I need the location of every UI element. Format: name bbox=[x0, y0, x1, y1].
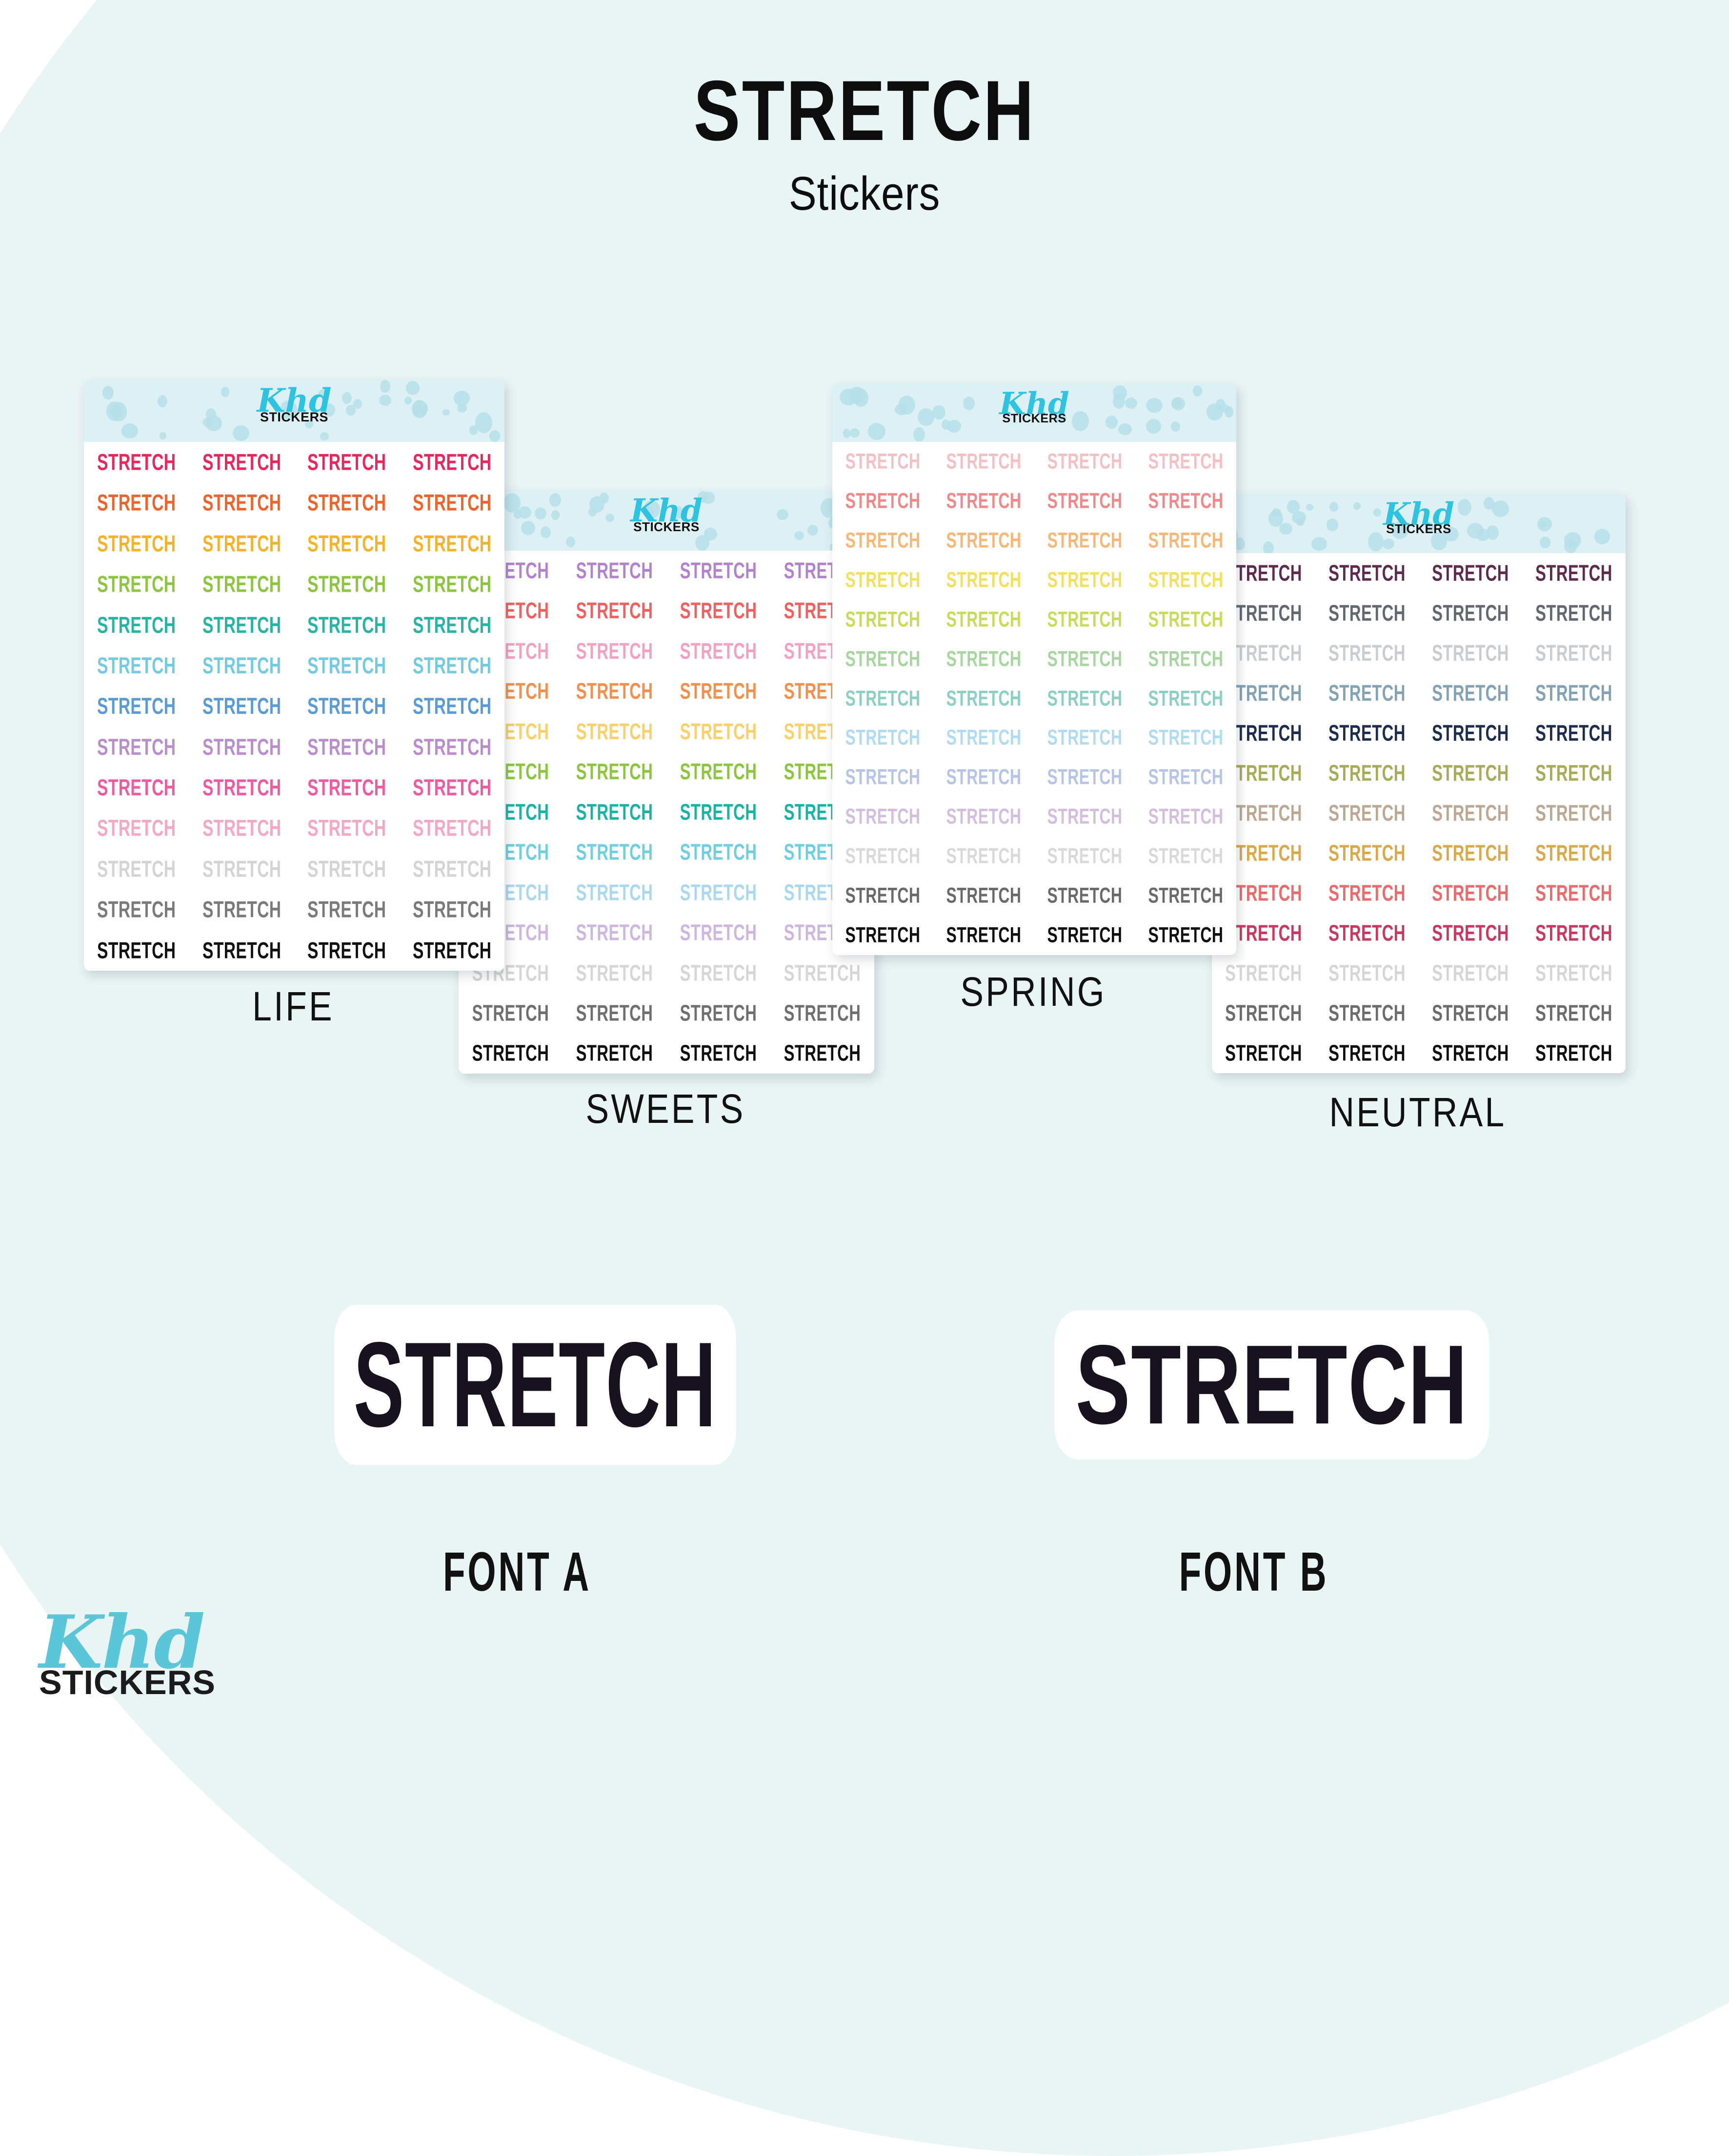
polka-dot-icon bbox=[777, 509, 788, 520]
sheet-sticker-grid: STRETCHSTRETCHSTRETCHSTRETCHSTRETCHSTRET… bbox=[1212, 553, 1626, 1073]
sticker-neutral-r11-c1[interactable]: STRETCH bbox=[1222, 951, 1305, 996]
sticker-life-r7-c1[interactable]: STRETCH bbox=[95, 683, 179, 729]
polka-dot-icon bbox=[1353, 502, 1360, 509]
sticker-spring-r3-c1[interactable]: STRETCH bbox=[843, 519, 924, 563]
polka-dot-icon bbox=[442, 409, 450, 416]
sticker-life-r12-c1[interactable]: STRETCH bbox=[95, 887, 179, 932]
sticker-life-r13-c3[interactable]: STRETCH bbox=[305, 927, 389, 971]
sticker-spring-r8-c3[interactable]: STRETCH bbox=[1045, 716, 1126, 760]
sheet-sticker-grid: STRETCHSTRETCHSTRETCHSTRETCHSTRETCHSTRET… bbox=[832, 442, 1236, 955]
sticker-neutral-r13-c4[interactable]: STRETCH bbox=[1532, 1031, 1615, 1073]
sticker-sweets-r12-c1[interactable]: STRETCH bbox=[469, 991, 552, 1036]
polka-dot-icon bbox=[454, 391, 469, 406]
sticker-sweets-r1-c2[interactable]: STRETCH bbox=[573, 548, 656, 593]
sticker-neutral-r3-c2[interactable]: STRETCH bbox=[1326, 631, 1408, 676]
sticker-spring-r1-c1[interactable]: STRETCH bbox=[843, 439, 924, 484]
sticker-sweets-r5-c3[interactable]: STRETCH bbox=[677, 709, 760, 754]
sticker-life-r3-c3[interactable]: STRETCH bbox=[305, 521, 389, 566]
sticker-sweets-r7-c3[interactable]: STRETCH bbox=[677, 790, 760, 835]
polka-dot-icon bbox=[566, 537, 575, 547]
polka-dot-icon bbox=[346, 405, 356, 416]
sticker-life-r9-c4[interactable]: STRETCH bbox=[410, 765, 494, 810]
sticker-neutral-r2-c3[interactable]: STRETCH bbox=[1429, 591, 1512, 636]
sticker-neutral-r7-c3[interactable]: STRETCH bbox=[1429, 791, 1512, 836]
polka-dot-icon bbox=[1327, 519, 1338, 531]
sticker-life-r10-c1[interactable]: STRETCH bbox=[95, 805, 179, 851]
sticker-neutral-r2-c2[interactable]: STRETCH bbox=[1326, 591, 1408, 636]
sticker-spring-r8-c2[interactable]: STRETCH bbox=[944, 716, 1025, 760]
page-header: STRETCH Stickers bbox=[0, 68, 1729, 221]
sheet-caption-sweets: SWEETS bbox=[489, 1085, 842, 1133]
sheet-sticker-grid: STRETCHSTRETCHSTRETCHSTRETCHSTRETCHSTRET… bbox=[84, 442, 504, 971]
polka-dot-icon bbox=[1329, 502, 1338, 512]
sticker-spring-r11-c1[interactable]: STRETCH bbox=[843, 834, 924, 878]
sticker-life-r7-c4[interactable]: STRETCH bbox=[410, 683, 494, 729]
sticker-life-r8-c3[interactable]: STRETCH bbox=[305, 724, 389, 770]
sticker-sweets-r11-c2[interactable]: STRETCH bbox=[573, 951, 656, 996]
sticker-spring-r9-c2[interactable]: STRETCH bbox=[944, 756, 1025, 800]
polka-dot-icon bbox=[1146, 398, 1163, 413]
sheet-caption-neutral: NEUTRAL bbox=[1242, 1089, 1594, 1136]
polka-dot-icon bbox=[895, 404, 907, 415]
polka-dot-icon bbox=[102, 386, 114, 399]
sticker-spring-r11-c2[interactable]: STRETCH bbox=[944, 834, 1025, 878]
sticker-sweets-r9-c3[interactable]: STRETCH bbox=[677, 870, 760, 915]
polka-dot-icon bbox=[342, 392, 352, 404]
polka-dot-icon bbox=[704, 528, 717, 540]
polka-dot-icon bbox=[794, 531, 804, 540]
sticker-life-r4-c1[interactable]: STRETCH bbox=[95, 561, 179, 607]
sticker-sweets-r13-c3[interactable]: STRETCH bbox=[677, 1031, 760, 1074]
sheet-stickers-wordmark: STICKERS bbox=[999, 413, 1069, 425]
sticker-spring-r2-c2[interactable]: STRETCH bbox=[944, 479, 1025, 523]
polka-dot-icon bbox=[551, 510, 560, 520]
sticker-spring-r8-c1[interactable]: STRETCH bbox=[843, 716, 924, 760]
sticker-spring-r7-c3[interactable]: STRETCH bbox=[1045, 677, 1126, 721]
sticker-life-r2-c1[interactable]: STRETCH bbox=[95, 480, 179, 525]
sticker-life-r4-c4[interactable]: STRETCH bbox=[410, 561, 494, 607]
sticker-sweets-r8-c2[interactable]: STRETCH bbox=[573, 830, 656, 875]
sticker-neutral-r1-c4[interactable]: STRETCH bbox=[1532, 551, 1615, 596]
sticker-neutral-r13-c1[interactable]: STRETCH bbox=[1222, 1031, 1305, 1073]
sticker-spring-r13-c2[interactable]: STRETCH bbox=[944, 913, 1025, 955]
page-subtitle: Stickers bbox=[104, 166, 1626, 221]
polka-dot-icon bbox=[521, 521, 535, 535]
sticker-sweets-r12-c2[interactable]: STRETCH bbox=[573, 991, 656, 1036]
polka-dot-icon bbox=[1373, 508, 1382, 517]
sticker-life-r8-c1[interactable]: STRETCH bbox=[95, 724, 179, 770]
polka-dot-icon bbox=[1458, 499, 1471, 516]
sticker-spring-r5-c3[interactable]: STRETCH bbox=[1045, 598, 1126, 642]
sticker-neutral-r10-c3[interactable]: STRETCH bbox=[1429, 911, 1512, 956]
sticker-life-r2-c2[interactable]: STRETCH bbox=[200, 480, 283, 525]
sheet-stickers-wordmark: STICKERS bbox=[630, 520, 703, 533]
sticker-life-r11-c3[interactable]: STRETCH bbox=[305, 846, 389, 892]
sticker-neutral-r13-c2[interactable]: STRETCH bbox=[1326, 1031, 1408, 1073]
sticker-sweets-r9-c2[interactable]: STRETCH bbox=[573, 870, 656, 915]
sticker-spring-r10-c4[interactable]: STRETCH bbox=[1146, 795, 1226, 839]
sheet-header-band: KhdSTICKERS bbox=[84, 379, 504, 442]
polka-dot-icon bbox=[600, 493, 609, 503]
sticker-spring-r1-c2[interactable]: STRETCH bbox=[944, 439, 1025, 484]
sticker-sweets-r10-c3[interactable]: STRETCH bbox=[677, 910, 760, 955]
sticker-spring-r6-c4[interactable]: STRETCH bbox=[1146, 637, 1226, 681]
sticker-sheet-sweets[interactable]: KhdSTICKERSSTRETCHSTRETCHSTRETCHSTRETCHS… bbox=[459, 490, 874, 1074]
polka-dot-icon bbox=[1287, 500, 1299, 513]
sticker-sheet-neutral[interactable]: KhdSTICKERSSTRETCHSTRETCHSTRETCHSTRETCHS… bbox=[1212, 494, 1626, 1073]
sticker-neutral-r4-c3[interactable]: STRETCH bbox=[1429, 671, 1512, 716]
polka-dot-icon bbox=[1171, 421, 1180, 431]
sticker-neutral-r5-c3[interactable]: STRETCH bbox=[1429, 711, 1512, 756]
sticker-sweets-r5-c2[interactable]: STRETCH bbox=[573, 709, 656, 754]
polka-dot-icon bbox=[868, 423, 885, 440]
sticker-spring-r5-c2[interactable]: STRETCH bbox=[944, 598, 1025, 642]
sticker-neutral-r6-c2[interactable]: STRETCH bbox=[1326, 751, 1408, 796]
polka-dot-icon bbox=[918, 408, 934, 426]
sticker-life-r12-c2[interactable]: STRETCH bbox=[200, 887, 283, 932]
sticker-life-r11-c1[interactable]: STRETCH bbox=[95, 846, 179, 892]
sticker-spring-r5-c1[interactable]: STRETCH bbox=[843, 598, 924, 642]
sticker-life-r5-c4[interactable]: STRETCH bbox=[410, 602, 494, 647]
sticker-sheet-life[interactable]: KhdSTICKERSSTRETCHSTRETCHSTRETCHSTRETCHS… bbox=[84, 379, 504, 971]
font-sample-a: STRETCH FONT A bbox=[263, 1317, 771, 1599]
sticker-neutral-r7-c2[interactable]: STRETCH bbox=[1326, 791, 1408, 836]
sticker-sweets-r6-c2[interactable]: STRETCH bbox=[573, 749, 656, 794]
sticker-life-r1-c2[interactable]: STRETCH bbox=[200, 439, 283, 485]
sheet-header-band: KhdSTICKERS bbox=[832, 383, 1236, 442]
polka-dot-icon bbox=[942, 419, 950, 430]
sticker-life-r6-c2[interactable]: STRETCH bbox=[200, 643, 283, 688]
sticker-life-r2-c3[interactable]: STRETCH bbox=[305, 480, 389, 525]
sticker-spring-r6-c1[interactable]: STRETCH bbox=[843, 637, 924, 681]
polka-dot-icon bbox=[1311, 537, 1327, 551]
footer-brand-logo: Khd STICKERS bbox=[39, 1606, 216, 1699]
polka-dot-icon bbox=[160, 432, 167, 439]
sticker-spring-r12-c1[interactable]: STRETCH bbox=[843, 874, 924, 918]
polka-dot-icon bbox=[1125, 398, 1137, 409]
sticker-sweets-r8-c3[interactable]: STRETCH bbox=[677, 830, 760, 875]
polka-dot-icon bbox=[843, 429, 850, 438]
sticker-life-r2-c4[interactable]: STRETCH bbox=[410, 480, 494, 525]
sticker-life-r1-c3[interactable]: STRETCH bbox=[305, 439, 389, 485]
sticker-spring-r2-c1[interactable]: STRETCH bbox=[843, 479, 924, 523]
sticker-neutral-r13-c3[interactable]: STRETCH bbox=[1429, 1031, 1512, 1073]
sticker-spring-r10-c1[interactable]: STRETCH bbox=[843, 795, 924, 839]
sticker-spring-r3-c4[interactable]: STRETCH bbox=[1146, 519, 1226, 563]
sticker-life-r13-c4[interactable]: STRETCH bbox=[410, 927, 494, 971]
sticker-neutral-r8-c2[interactable]: STRETCH bbox=[1326, 831, 1408, 876]
polka-dot-icon bbox=[221, 387, 229, 397]
polka-dot-icon bbox=[1072, 411, 1089, 431]
polka-dot-icon bbox=[379, 395, 391, 406]
sticker-sweets-r3-c3[interactable]: STRETCH bbox=[677, 629, 760, 674]
polka-dot-icon bbox=[1113, 385, 1127, 400]
sticker-life-r1-c4[interactable]: STRETCH bbox=[410, 439, 494, 485]
sticker-spring-r8-c4[interactable]: STRETCH bbox=[1146, 716, 1226, 760]
sticker-sweets-r11-c4[interactable]: STRETCH bbox=[781, 951, 864, 996]
sticker-neutral-r6-c3[interactable]: STRETCH bbox=[1429, 751, 1512, 796]
sheet-caption-spring: SPRING bbox=[862, 968, 1205, 1016]
sticker-neutral-r11-c2[interactable]: STRETCH bbox=[1326, 951, 1408, 996]
sticker-spring-r1-c4[interactable]: STRETCH bbox=[1146, 439, 1226, 484]
sticker-life-r8-c4[interactable]: STRETCH bbox=[410, 724, 494, 770]
sheet-stickers-wordmark: STICKERS bbox=[257, 411, 332, 424]
sticker-neutral-r5-c2[interactable]: STRETCH bbox=[1326, 711, 1408, 756]
polka-dot-icon bbox=[850, 428, 860, 438]
sticker-spring-r12-c3[interactable]: STRETCH bbox=[1045, 874, 1126, 918]
polka-dot-icon bbox=[469, 425, 478, 435]
sticker-neutral-r12-c4[interactable]: STRETCH bbox=[1532, 991, 1615, 1036]
sticker-spring-r9-c4[interactable]: STRETCH bbox=[1146, 756, 1226, 800]
sticker-neutral-r9-c3[interactable]: STRETCH bbox=[1429, 871, 1512, 916]
sticker-sweets-r6-c3[interactable]: STRETCH bbox=[677, 749, 760, 794]
sticker-life-r5-c2[interactable]: STRETCH bbox=[200, 602, 283, 647]
sticker-life-r7-c3[interactable]: STRETCH bbox=[305, 683, 389, 729]
sticker-spring-r9-c3[interactable]: STRETCH bbox=[1045, 756, 1126, 800]
sticker-life-r6-c4[interactable]: STRETCH bbox=[410, 643, 494, 688]
polka-dot-icon bbox=[106, 401, 123, 421]
sticker-spring-r7-c4[interactable]: STRETCH bbox=[1146, 677, 1226, 721]
sticker-sweets-r13-c2[interactable]: STRETCH bbox=[573, 1031, 656, 1074]
sheet-brand-logo: KhdSTICKERS bbox=[999, 388, 1069, 425]
sticker-life-r10-c3[interactable]: STRETCH bbox=[305, 805, 389, 851]
polka-dot-icon bbox=[475, 412, 492, 433]
polka-dot-icon bbox=[588, 507, 597, 517]
sticker-neutral-r4-c2[interactable]: STRETCH bbox=[1326, 671, 1408, 716]
sticker-life-r7-c2[interactable]: STRETCH bbox=[200, 683, 283, 729]
polka-dot-icon bbox=[121, 423, 138, 438]
sticker-neutral-r8-c3[interactable]: STRETCH bbox=[1429, 831, 1512, 876]
sticker-neutral-r10-c4[interactable]: STRETCH bbox=[1532, 911, 1615, 956]
sticker-sweets-r11-c3[interactable]: STRETCH bbox=[677, 951, 760, 996]
polka-dot-icon bbox=[1594, 529, 1610, 544]
font-b-sticker: STRETCH bbox=[1054, 1310, 1489, 1459]
sticker-life-r12-c4[interactable]: STRETCH bbox=[410, 887, 494, 932]
sticker-life-r13-c1[interactable]: STRETCH bbox=[95, 927, 179, 971]
sticker-life-r9-c3[interactable]: STRETCH bbox=[305, 765, 389, 810]
sticker-spring-r7-c2[interactable]: STRETCH bbox=[944, 677, 1025, 721]
sticker-neutral-r9-c2[interactable]: STRETCH bbox=[1326, 871, 1408, 916]
sticker-life-r9-c1[interactable]: STRETCH bbox=[95, 765, 179, 810]
sticker-neutral-r11-c4[interactable]: STRETCH bbox=[1532, 951, 1615, 996]
polka-dot-icon bbox=[1146, 419, 1161, 433]
sticker-spring-r12-c2[interactable]: STRETCH bbox=[944, 874, 1025, 918]
sticker-sweets-r1-c3[interactable]: STRETCH bbox=[677, 548, 760, 593]
polka-dot-icon bbox=[1296, 518, 1305, 526]
sticker-neutral-r5-c4[interactable]: STRETCH bbox=[1532, 711, 1615, 756]
sticker-spring-r6-c3[interactable]: STRETCH bbox=[1045, 637, 1126, 681]
sticker-spring-r2-c3[interactable]: STRETCH bbox=[1045, 479, 1126, 523]
polka-dot-icon bbox=[1383, 539, 1394, 550]
sticker-spring-r4-c4[interactable]: STRETCH bbox=[1146, 558, 1226, 602]
sticker-spring-r10-c3[interactable]: STRETCH bbox=[1045, 795, 1126, 839]
sticker-life-r13-c2[interactable]: STRETCH bbox=[200, 927, 283, 971]
sticker-sweets-r13-c4[interactable]: STRETCH bbox=[781, 1031, 864, 1074]
polka-dot-icon bbox=[541, 526, 551, 538]
polka-dot-icon bbox=[158, 395, 168, 407]
polka-dot-icon bbox=[233, 425, 249, 441]
sticker-life-r5-c3[interactable]: STRETCH bbox=[305, 602, 389, 647]
font-b-label: FONT B bbox=[1056, 1540, 1451, 1604]
sticker-spring-r13-c3[interactable]: STRETCH bbox=[1045, 913, 1126, 955]
sticker-neutral-r1-c2[interactable]: STRETCH bbox=[1326, 551, 1408, 596]
sticker-sweets-r13-c1[interactable]: STRETCH bbox=[469, 1031, 552, 1074]
sheet-stickers-wordmark: STICKERS bbox=[1383, 523, 1454, 536]
sheet-brand-logo: KhdSTICKERS bbox=[1383, 499, 1454, 536]
polka-dot-icon bbox=[1279, 523, 1292, 535]
sheet-sticker-grid: STRETCHSTRETCHSTRETCHSTRETCHSTRETCHSTRET… bbox=[459, 551, 874, 1074]
sheet-brand-logo: KhdSTICKERS bbox=[630, 495, 703, 533]
sticker-life-r8-c2[interactable]: STRETCH bbox=[200, 724, 283, 770]
polka-dot-icon bbox=[1540, 537, 1551, 548]
sticker-life-r1-c1[interactable]: STRETCH bbox=[95, 439, 179, 485]
sticker-neutral-r11-c3[interactable]: STRETCH bbox=[1429, 951, 1512, 996]
sticker-life-r3-c1[interactable]: STRETCH bbox=[95, 521, 179, 566]
sticker-sweets-r12-c4[interactable]: STRETCH bbox=[781, 991, 864, 1036]
sticker-spring-r5-c4[interactable]: STRETCH bbox=[1146, 598, 1226, 642]
sticker-spring-r13-c1[interactable]: STRETCH bbox=[843, 913, 924, 955]
sticker-spring-r6-c2[interactable]: STRETCH bbox=[944, 637, 1025, 681]
background-blob bbox=[0, 0, 1729, 2156]
sticker-life-r10-c2[interactable]: STRETCH bbox=[200, 805, 283, 851]
polka-dot-icon bbox=[404, 397, 412, 404]
sticker-spring-r11-c4[interactable]: STRETCH bbox=[1146, 834, 1226, 878]
sticker-life-r10-c4[interactable]: STRETCH bbox=[410, 805, 494, 851]
khd-stickers-wordmark: STICKERS bbox=[39, 1665, 216, 1699]
sticker-neutral-r3-c4[interactable]: STRETCH bbox=[1532, 631, 1615, 676]
sticker-spring-r2-c4[interactable]: STRETCH bbox=[1146, 479, 1226, 523]
sticker-life-r12-c3[interactable]: STRETCH bbox=[305, 887, 389, 932]
sticker-life-r4-c2[interactable]: STRETCH bbox=[200, 561, 283, 607]
polka-dot-icon bbox=[1118, 423, 1132, 435]
polka-dot-icon bbox=[1564, 532, 1582, 548]
sticker-neutral-r9-c4[interactable]: STRETCH bbox=[1532, 871, 1615, 916]
sticker-spring-r11-c3[interactable]: STRETCH bbox=[1045, 834, 1126, 878]
sticker-neutral-r6-c4[interactable]: STRETCH bbox=[1532, 751, 1615, 796]
sticker-sweets-r2-c2[interactable]: STRETCH bbox=[573, 589, 656, 634]
polka-dot-icon bbox=[1193, 385, 1202, 397]
sticker-life-r6-c1[interactable]: STRETCH bbox=[95, 643, 179, 688]
sticker-life-r5-c1[interactable]: STRETCH bbox=[95, 602, 179, 647]
polka-dot-icon bbox=[848, 387, 865, 403]
sticker-neutral-r3-c3[interactable]: STRETCH bbox=[1429, 631, 1512, 676]
sticker-neutral-r10-c2[interactable]: STRETCH bbox=[1326, 911, 1408, 956]
sticker-spring-r12-c4[interactable]: STRETCH bbox=[1146, 874, 1226, 918]
polka-dot-icon bbox=[932, 405, 945, 419]
polka-dot-icon bbox=[1306, 504, 1314, 511]
polka-dot-icon bbox=[406, 381, 420, 395]
sticker-spring-r10-c2[interactable]: STRETCH bbox=[944, 795, 1025, 839]
sticker-neutral-r8-c4[interactable]: STRETCH bbox=[1532, 831, 1615, 876]
font-sample-b: STRETCH FONT B bbox=[1000, 1317, 1508, 1599]
sticker-neutral-r1-c3[interactable]: STRETCH bbox=[1429, 551, 1512, 596]
sticker-neutral-r4-c4[interactable]: STRETCH bbox=[1532, 671, 1615, 716]
page-title: STRETCH bbox=[156, 68, 1573, 154]
sheet-caption-life: LIFE bbox=[115, 983, 472, 1030]
sticker-spring-r4-c2[interactable]: STRETCH bbox=[944, 558, 1025, 602]
sticker-life-r4-c3[interactable]: STRETCH bbox=[305, 561, 389, 607]
polka-dot-icon bbox=[1106, 416, 1117, 429]
sticker-life-r9-c2[interactable]: STRETCH bbox=[200, 765, 283, 810]
polka-dot-icon bbox=[807, 525, 818, 536]
polka-dot-icon bbox=[202, 418, 213, 427]
polka-dot-icon bbox=[1221, 404, 1229, 412]
polka-dot-icon bbox=[1368, 532, 1384, 551]
sticker-life-r11-c2[interactable]: STRETCH bbox=[200, 846, 283, 892]
sheet-brand-logo: KhdSTICKERS bbox=[257, 384, 332, 424]
polka-dot-icon bbox=[1272, 508, 1281, 518]
polka-dot-icon bbox=[514, 510, 521, 519]
sticker-neutral-r7-c4[interactable]: STRETCH bbox=[1532, 791, 1615, 836]
sticker-neutral-r12-c2[interactable]: STRETCH bbox=[1326, 991, 1408, 1036]
polka-dot-icon bbox=[413, 400, 428, 417]
polka-dot-icon bbox=[1476, 529, 1489, 541]
sticker-life-r3-c4[interactable]: STRETCH bbox=[410, 521, 494, 566]
sticker-sweets-r10-c2[interactable]: STRETCH bbox=[573, 910, 656, 955]
polka-dot-icon bbox=[549, 493, 561, 507]
polka-dot-icon bbox=[380, 380, 390, 393]
sticker-sheet-spring[interactable]: KhdSTICKERSSTRETCHSTRETCHSTRETCHSTRETCHS… bbox=[832, 383, 1236, 955]
polka-dot-icon bbox=[1492, 500, 1509, 518]
sticker-neutral-r12-c3[interactable]: STRETCH bbox=[1429, 991, 1512, 1036]
sticker-life-r3-c2[interactable]: STRETCH bbox=[200, 521, 283, 566]
sheet-header-band: KhdSTICKERS bbox=[1212, 494, 1626, 553]
sticker-sweets-r2-c3[interactable]: STRETCH bbox=[677, 589, 760, 634]
polka-dot-icon bbox=[535, 507, 546, 519]
sticker-sweets-r12-c3[interactable]: STRETCH bbox=[677, 991, 760, 1036]
sticker-sweets-r7-c2[interactable]: STRETCH bbox=[573, 790, 656, 835]
font-a-label: FONT A bbox=[319, 1540, 715, 1604]
sticker-life-r11-c4[interactable]: STRETCH bbox=[410, 846, 494, 892]
font-a-sticker: STRETCH bbox=[334, 1305, 736, 1465]
sticker-spring-r1-c3[interactable]: STRETCH bbox=[1045, 439, 1126, 484]
polka-dot-icon bbox=[963, 397, 975, 410]
polka-dot-icon bbox=[605, 514, 614, 522]
sticker-spring-r3-c2[interactable]: STRETCH bbox=[944, 519, 1025, 563]
sticker-spring-r4-c3[interactable]: STRETCH bbox=[1045, 558, 1126, 602]
sticker-spring-r13-c4[interactable]: STRETCH bbox=[1146, 913, 1226, 955]
sticker-sweets-r4-c2[interactable]: STRETCH bbox=[573, 669, 656, 714]
sticker-sweets-r4-c3[interactable]: STRETCH bbox=[677, 669, 760, 714]
sticker-life-r6-c3[interactable]: STRETCH bbox=[305, 643, 389, 688]
sticker-spring-r7-c1[interactable]: STRETCH bbox=[843, 677, 924, 721]
sticker-spring-r4-c1[interactable]: STRETCH bbox=[843, 558, 924, 602]
sticker-neutral-r2-c4[interactable]: STRETCH bbox=[1532, 591, 1615, 636]
sheet-header-band: KhdSTICKERS bbox=[459, 490, 874, 551]
sticker-neutral-r12-c1[interactable]: STRETCH bbox=[1222, 991, 1305, 1036]
sticker-spring-r9-c1[interactable]: STRETCH bbox=[843, 756, 924, 800]
sticker-spring-r3-c3[interactable]: STRETCH bbox=[1045, 519, 1126, 563]
sticker-sweets-r3-c2[interactable]: STRETCH bbox=[573, 629, 656, 674]
